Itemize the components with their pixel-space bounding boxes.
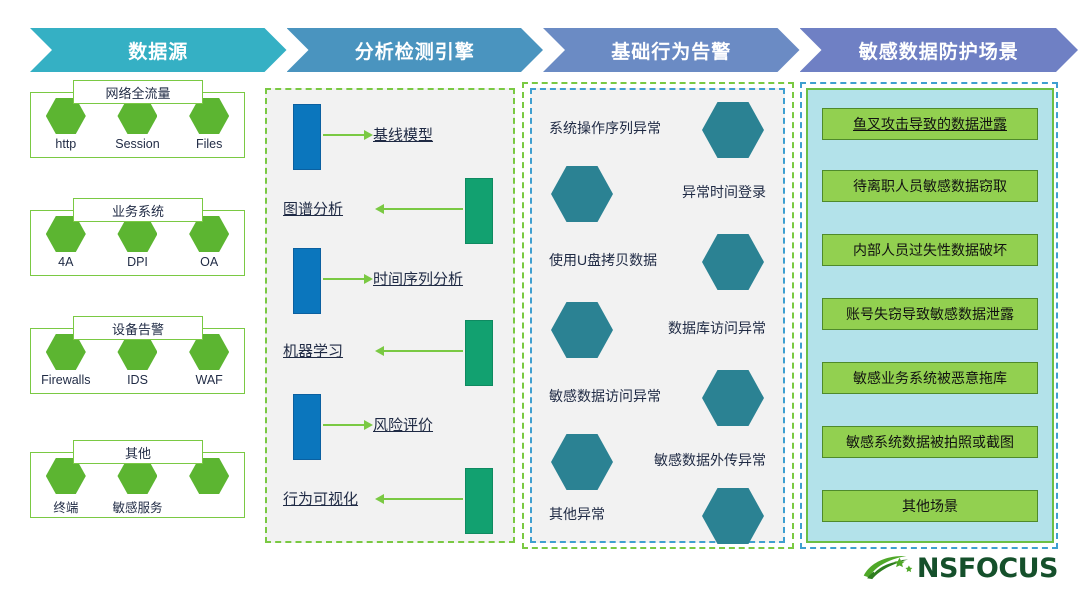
- arrow-right-icon: [323, 134, 365, 136]
- data-source-item[interactable]: OA: [176, 216, 242, 269]
- data-source-item[interactable]: Files: [176, 98, 242, 151]
- scenario-box[interactable]: 敏感系统数据被拍照或截图: [822, 426, 1038, 458]
- arrow-left-icon: [383, 498, 463, 500]
- data-source-item[interactable]: 终端: [33, 458, 99, 516]
- data-source-group: 设备告警FirewallsIDSWAF: [30, 316, 245, 400]
- arrow-head-icon: [375, 204, 384, 214]
- banner-stage-2[interactable]: 分析检测引擎: [287, 28, 544, 72]
- engine-row: 机器学习: [265, 314, 515, 390]
- data-source-item[interactable]: Firewalls: [33, 334, 99, 387]
- engine-method-label[interactable]: 行为可视化: [283, 488, 358, 509]
- scenario-box[interactable]: 敏感业务系统被恶意拖库: [822, 362, 1038, 394]
- alert-label[interactable]: 使用U盘拷贝数据: [549, 250, 657, 270]
- data-source-group: 其他终端敏感服务: [30, 440, 245, 524]
- scenario-box[interactable]: 待离职人员敏感数据窃取: [822, 170, 1038, 202]
- engine-row: 图谱分析: [265, 172, 515, 248]
- alert-row: 其他异常: [535, 482, 780, 556]
- banner-stage-label: 数据源: [128, 37, 188, 64]
- data-source-group-title: 其他: [73, 440, 203, 464]
- engine-method-label[interactable]: 时间序列分析: [373, 268, 463, 289]
- scenario-label: 其他场景: [902, 496, 958, 516]
- data-source-item-label: OA: [200, 255, 218, 269]
- arrow-left-icon: [383, 208, 463, 210]
- blue-bar-indicator: [293, 394, 321, 460]
- data-source-item-label: Files: [196, 137, 222, 151]
- alert-row: 敏感数据访问异常: [535, 364, 780, 438]
- engine-method-label[interactable]: 机器学习: [283, 340, 343, 361]
- arrow-right-icon: [323, 424, 365, 426]
- banner-stage-label: 基础行为告警: [611, 37, 731, 64]
- scenario-box[interactable]: 内部人员过失性数据破坏: [822, 234, 1038, 266]
- data-source-item-label: 终端: [53, 497, 78, 516]
- data-source-group-title: 网络全流量: [73, 80, 203, 104]
- engine-row: 风险评价: [265, 388, 515, 464]
- hexagon-icon: [702, 102, 764, 158]
- banner-stage-4[interactable]: 敏感数据防护场景: [800, 28, 1079, 72]
- arrow-head-icon: [375, 494, 384, 504]
- engine-row: 行为可视化: [265, 462, 515, 538]
- green-bar-indicator: [465, 178, 493, 244]
- alert-label[interactable]: 系统操作序列异常: [549, 118, 661, 138]
- scenario-label: 待离职人员敏感数据窃取: [853, 176, 1007, 196]
- data-source-item-label: http: [55, 137, 76, 151]
- data-source-item[interactable]: 4A: [33, 216, 99, 269]
- blue-bar-indicator: [293, 248, 321, 314]
- alert-label[interactable]: 数据库访问异常: [668, 318, 766, 338]
- hexagon-icon: [702, 234, 764, 290]
- green-bar-indicator: [465, 468, 493, 534]
- data-source-item[interactable]: WAF: [176, 334, 242, 387]
- data-source-item[interactable]: IDS: [104, 334, 170, 387]
- scenario-box[interactable]: 鱼叉攻击导致的数据泄露: [822, 108, 1038, 140]
- hexagon-icon: [702, 370, 764, 426]
- blue-bar-indicator: [293, 104, 321, 170]
- data-source-item-list: httpSessionFiles: [30, 98, 245, 151]
- arrow-head-icon: [364, 130, 373, 140]
- engine-method-label[interactable]: 基线模型: [373, 124, 433, 145]
- alert-row: 系统操作序列异常: [535, 96, 780, 170]
- data-source-group-title: 设备告警: [73, 316, 203, 340]
- green-bar-indicator: [465, 320, 493, 386]
- banner-stage-1[interactable]: 数据源: [30, 28, 287, 72]
- alert-label[interactable]: 异常时间登录: [682, 182, 766, 202]
- logo-wordmark: NSFOCUS: [917, 553, 1058, 584]
- hexagon-icon: [551, 302, 613, 358]
- alert-row: 使用U盘拷贝数据: [535, 228, 780, 302]
- data-source-item-label: Firewalls: [41, 373, 90, 387]
- engine-method-label[interactable]: 图谱分析: [283, 198, 343, 219]
- data-source-item-label: DPI: [127, 255, 148, 269]
- nsfocus-logo: NSFOCUS: [862, 550, 1058, 586]
- data-source-item-label: 4A: [58, 255, 73, 269]
- alert-label[interactable]: 其他异常: [549, 504, 605, 524]
- banner-stage-label: 分析检测引擎: [355, 37, 475, 64]
- comet-swoosh-icon: [862, 551, 915, 585]
- data-source-group: 网络全流量httpSessionFiles: [30, 80, 245, 164]
- data-source-item-list: FirewallsIDSWAF: [30, 334, 245, 387]
- data-source-group-title: 业务系统: [73, 198, 203, 222]
- alert-label[interactable]: 敏感数据外传异常: [654, 450, 766, 470]
- scenario-label: 敏感系统数据被拍照或截图: [846, 432, 1014, 452]
- data-source-item-list: 4ADPIOA: [30, 216, 245, 269]
- banner-stage-3[interactable]: 基础行为告警: [543, 28, 800, 72]
- banner-stage-label: 敏感数据防护场景: [859, 37, 1019, 64]
- arrow-head-icon: [375, 346, 384, 356]
- alert-label[interactable]: 敏感数据访问异常: [549, 386, 661, 406]
- data-source-item-label: IDS: [127, 373, 148, 387]
- engine-row: 时间序列分析: [265, 242, 515, 318]
- data-source-item-list: 终端敏感服务: [30, 458, 245, 516]
- scenario-box[interactable]: 其他场景: [822, 490, 1038, 522]
- data-source-item[interactable]: 敏感服务: [104, 458, 170, 516]
- scenario-label: 内部人员过失性数据破坏: [853, 240, 1007, 260]
- alert-row: 异常时间登录: [535, 160, 780, 234]
- arrow-head-icon: [364, 420, 373, 430]
- data-source-item-label: Session: [115, 137, 159, 151]
- arrow-head-icon: [364, 274, 373, 284]
- alert-row: 数据库访问异常: [535, 296, 780, 370]
- data-source-item[interactable]: [176, 458, 242, 516]
- scenario-label: 鱼叉攻击导致的数据泄露: [853, 114, 1007, 134]
- engine-row: 基线模型: [265, 98, 515, 174]
- arrow-left-icon: [383, 350, 463, 352]
- hexagon-icon: [551, 166, 613, 222]
- arrow-right-icon: [323, 278, 365, 280]
- engine-method-label[interactable]: 风险评价: [373, 414, 433, 435]
- data-source-group: 业务系统4ADPIOA: [30, 198, 245, 282]
- scenario-label: 账号失窃导致敏感数据泄露: [846, 304, 1014, 324]
- scenario-label: 敏感业务系统被恶意拖库: [853, 368, 1007, 388]
- process-banner: 数据源分析检测引擎基础行为告警敏感数据防护场景: [30, 28, 1056, 72]
- data-source-item-label: WAF: [195, 373, 222, 387]
- data-source-item[interactable]: http: [33, 98, 99, 151]
- data-source-item[interactable]: DPI: [104, 216, 170, 269]
- data-source-item-label: 敏感服务: [112, 497, 162, 516]
- data-source-item[interactable]: Session: [104, 98, 170, 151]
- hexagon-icon: [702, 488, 764, 544]
- scenario-box[interactable]: 账号失窃导致敏感数据泄露: [822, 298, 1038, 330]
